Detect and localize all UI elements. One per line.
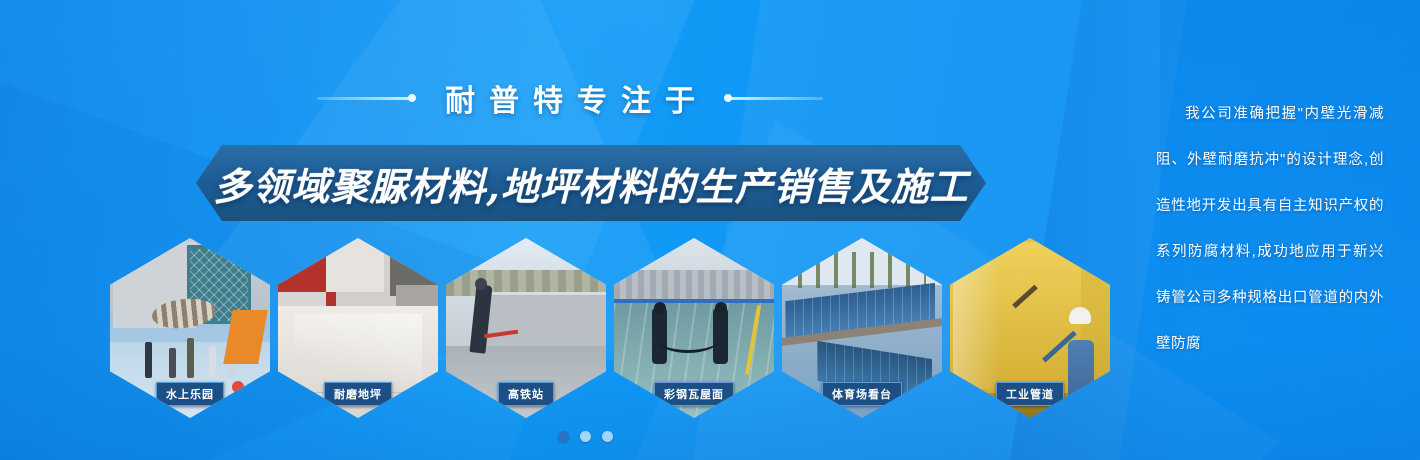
hexagon-item-stadium-grandstand[interactable]: 体育场看台 [782,238,942,418]
carousel-dot-2[interactable] [580,431,591,442]
hexagon-item-wear-resistant-floor[interactable]: 耐磨地坪 [278,238,438,418]
promo-banner: 耐普特专注于 多领域聚脲材料,地坪材料的生产销售及施工 水上乐园 耐磨地坪 [0,0,1420,460]
hexagon-label: 体育场看台 [822,382,902,406]
carousel-dot-3[interactable] [602,431,613,442]
hexagon-label: 工业管道 [996,382,1064,406]
hexagon-item-high-speed-rail-station[interactable]: 高铁站 [446,238,606,418]
carousel-dots [0,431,1170,442]
hexagon-item-water-park[interactable]: 水上乐园 [110,238,270,418]
decorative-line-left [317,97,413,100]
hexagon-item-industrial-pipeline[interactable]: 工业管道 [950,238,1110,418]
hexagon-label: 高铁站 [498,382,554,406]
hexagon-item-color-steel-tile-roof[interactable]: 彩钢瓦屋面 [614,238,774,418]
hexagon-label: 水上乐园 [156,382,224,406]
side-paragraph: 我公司准确把握"内壁光滑减阻、外壁耐磨抗冲"的设计理念,创造性地开发出具有自主知… [1156,91,1384,367]
hexagon-gallery: 水上乐园 耐磨地坪 高铁站 彩钢瓦 [110,238,1120,418]
decorative-line-right [727,97,823,100]
carousel-dot-1[interactable] [558,431,569,442]
hexagon-label: 彩钢瓦屋面 [654,382,734,406]
eyebrow-text: 耐普特专注于 [431,76,709,120]
eyebrow-row: 耐普特专注于 [0,76,1140,120]
hexagon-label: 耐磨地坪 [324,382,392,406]
page-title: 多领域聚脲材料,地坪材料的生产销售及施工 [213,156,968,211]
headline-plate: 多领域聚脲材料,地坪材料的生产销售及施工 [196,145,986,221]
